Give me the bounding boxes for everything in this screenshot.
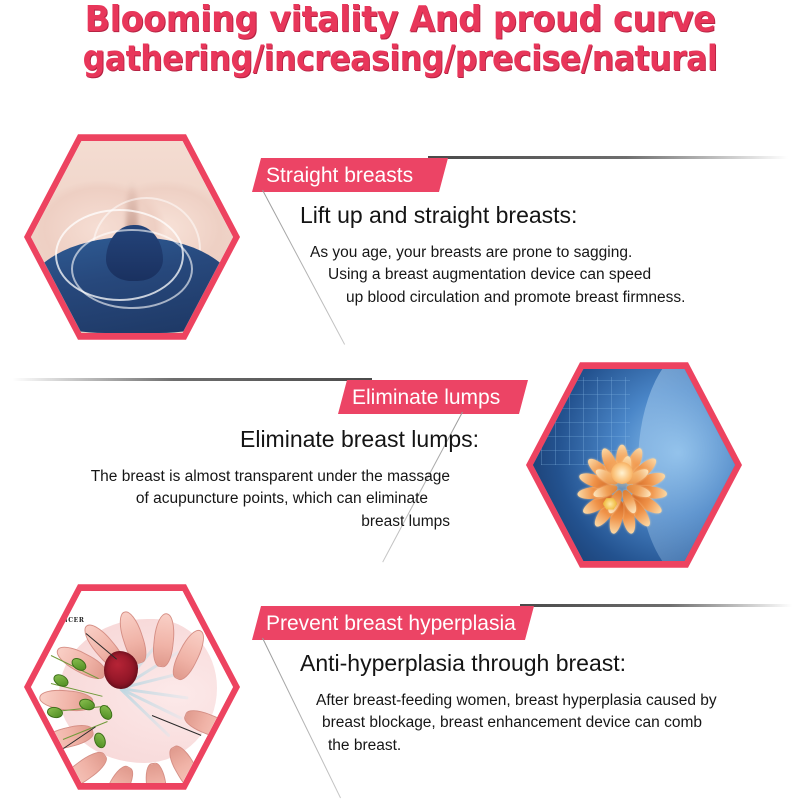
body-line: up blood circulation and promote breast … bbox=[310, 287, 750, 309]
section-eliminate-lumps: Eliminate lumps Eliminate breast lumps: … bbox=[0, 350, 800, 576]
section-straight-breasts: Straight breasts Lift up and straight br… bbox=[0, 124, 800, 350]
banner-label-1: Straight breasts bbox=[252, 165, 427, 186]
body-line: breast blockage, breast enhancement devi… bbox=[316, 712, 776, 734]
banner-label-2: Eliminate lumps bbox=[338, 387, 514, 408]
section-body-1: As you age, your breasts are prone to sa… bbox=[310, 242, 750, 309]
section-prevent-hyperplasia: Cancer Prevent breast hyperplasia Anti-h… bbox=[0, 570, 800, 796]
hexagon-image-frame-2 bbox=[526, 358, 742, 572]
banner-straight-breasts: Straight breasts bbox=[252, 158, 448, 192]
gland-cluster bbox=[565, 417, 678, 529]
section-rule-2 bbox=[12, 378, 372, 381]
body-line: the breast. bbox=[316, 735, 776, 757]
body-line: Using a breast augmentation device can s… bbox=[310, 264, 750, 286]
section-body-3: After breast-feeding women, breast hyper… bbox=[316, 690, 776, 757]
body-line: After breast-feeding women, breast hyper… bbox=[316, 690, 776, 712]
body-line: As you age, your breasts are prone to sa… bbox=[310, 242, 750, 264]
banner-prevent-hyperplasia: Prevent breast hyperplasia bbox=[252, 606, 534, 640]
section-rule-3 bbox=[520, 604, 792, 607]
section-heading-3: Anti-hyperplasia through breast: bbox=[300, 652, 626, 675]
title-line-2: gathering/increasing/precise/natural bbox=[40, 42, 760, 77]
section-body-2: The breast is almost transparent under t… bbox=[50, 466, 450, 533]
body-line: of acupuncture points, which can elimina… bbox=[50, 488, 450, 510]
banner-eliminate-lumps: Eliminate lumps bbox=[338, 380, 528, 414]
section-heading-2: Eliminate breast lumps: bbox=[240, 428, 479, 451]
body-line: breast lumps bbox=[50, 511, 450, 533]
banner-label-3: Prevent breast hyperplasia bbox=[252, 613, 530, 634]
body-line: The breast is almost transparent under t… bbox=[50, 466, 450, 488]
section-heading-1: Lift up and straight breasts: bbox=[300, 204, 577, 227]
infographic-page: Blooming vitality And proud curve gather… bbox=[0, 0, 800, 800]
hexagon-image-frame-1 bbox=[24, 130, 240, 344]
page-title: Blooming vitality And proud curve gather… bbox=[0, 2, 800, 77]
title-line-1: Blooming vitality And proud curve bbox=[28, 2, 772, 38]
hexagon-image-frame-3: Cancer bbox=[24, 580, 240, 794]
section-rule-1 bbox=[428, 156, 788, 159]
